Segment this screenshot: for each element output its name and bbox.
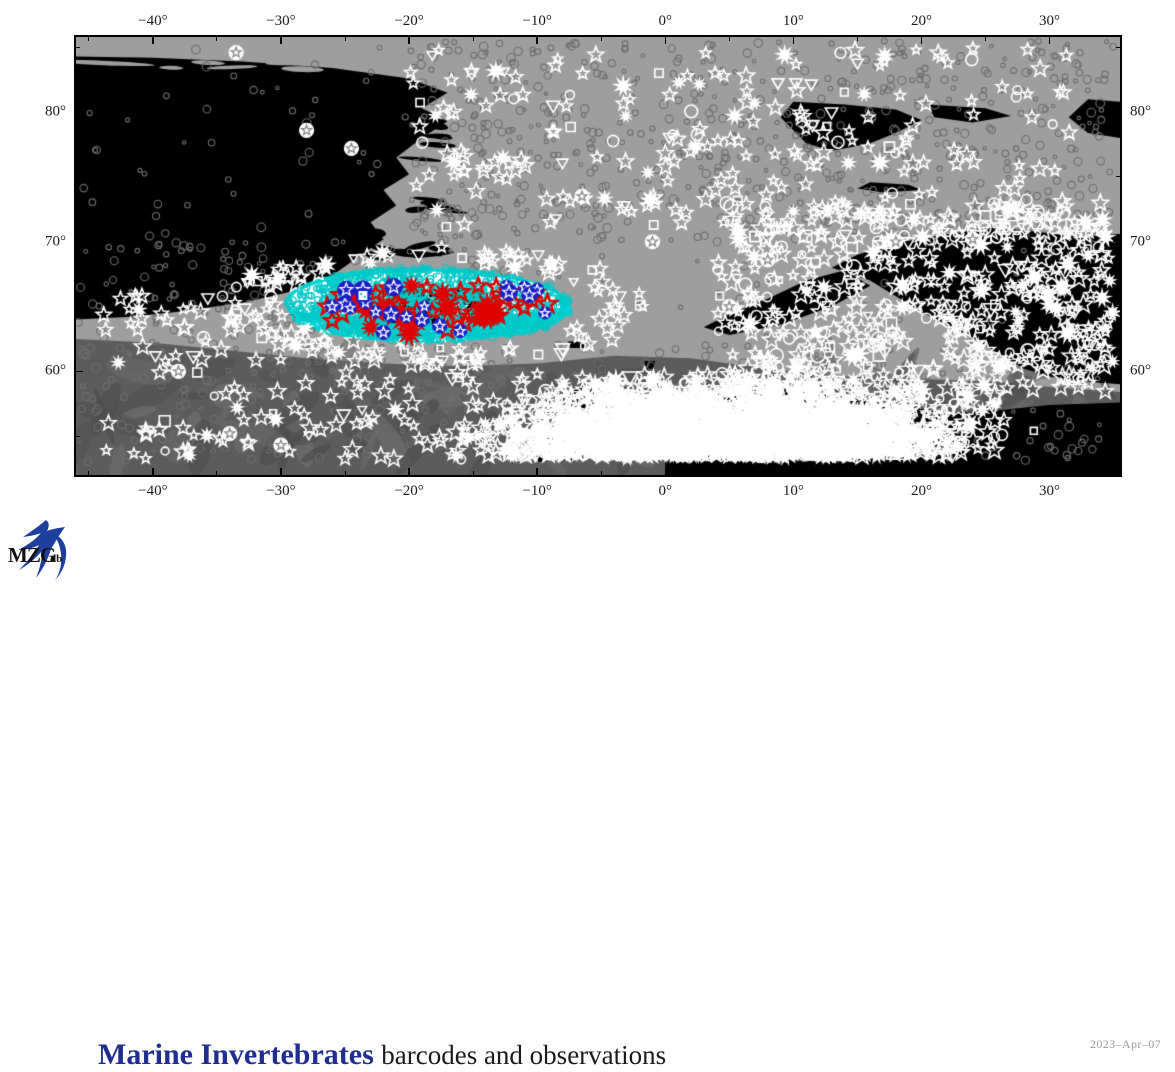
x-tick-minor — [88, 471, 89, 475]
x-axis-label-bottom: −30° — [266, 483, 295, 500]
y-tick-minor — [76, 306, 80, 307]
date-stamp: 2023–Apr–07 — [1090, 1037, 1161, 1052]
x-tick-minor — [857, 471, 858, 475]
svg-text:db: db — [50, 553, 62, 565]
x-tick-major — [793, 468, 795, 475]
x-tick-minor — [857, 37, 858, 41]
x-tick-major — [921, 468, 923, 475]
x-tick-major — [408, 37, 410, 44]
x-tick-minor — [345, 37, 346, 41]
y-tick-minor — [1116, 176, 1120, 177]
x-tick-major — [1049, 37, 1051, 44]
y-tick-major — [1113, 111, 1120, 113]
y-tick-minor — [1116, 306, 1120, 307]
y-axis-label-right: 60° — [1130, 363, 1151, 380]
x-tick-major — [408, 468, 410, 475]
x-axis-label-top: 0° — [659, 13, 673, 30]
figure-caption: Marine Invertebrates barcodes and observ… — [98, 1038, 666, 1072]
x-axis-label-top: −40° — [138, 13, 167, 30]
x-tick-minor — [345, 471, 346, 475]
x-tick-minor — [473, 471, 474, 475]
map-canvas[interactable] — [76, 37, 1120, 475]
x-axis-label-bottom: 10° — [783, 483, 804, 500]
x-axis-label-bottom: 30° — [1039, 483, 1060, 500]
x-axis-label-bottom: −20° — [394, 483, 423, 500]
y-axis-label-right: 80° — [1130, 104, 1151, 121]
y-tick-minor — [76, 176, 80, 177]
x-tick-major — [665, 468, 667, 475]
x-axis-label-top: 20° — [911, 13, 932, 30]
x-tick-minor — [729, 37, 730, 41]
y-axis-label-left: 80° — [28, 104, 66, 121]
figure-footer: MZG db Marine Invertebrates barcodes and… — [0, 510, 1175, 588]
x-tick-minor — [216, 471, 217, 475]
x-tick-minor — [601, 471, 602, 475]
y-tick-major — [76, 241, 83, 243]
y-axis-label-right: 70° — [1130, 233, 1151, 250]
x-tick-major — [536, 468, 538, 475]
x-axis-label-top: 10° — [783, 13, 804, 30]
x-tick-minor — [88, 37, 89, 41]
caption-strong: Marine Invertebrates — [98, 1038, 374, 1071]
x-tick-major — [280, 468, 282, 475]
x-tick-major — [793, 37, 795, 44]
y-tick-minor — [1116, 47, 1120, 48]
map-figure: −40°−40°−30°−30°−20°−20°−10°−10°0°0°10°1… — [0, 0, 1175, 510]
bird-logo-icon: MZG db — [6, 516, 78, 582]
map-frame[interactable] — [74, 35, 1122, 477]
x-tick-major — [665, 37, 667, 44]
x-tick-minor — [216, 37, 217, 41]
x-axis-label-bottom: 20° — [911, 483, 932, 500]
x-tick-major — [280, 37, 282, 44]
y-tick-minor — [76, 47, 80, 48]
x-axis-label-bottom: 0° — [659, 483, 673, 500]
y-tick-major — [76, 371, 83, 373]
x-axis-label-top: −20° — [394, 13, 423, 30]
y-tick-minor — [1116, 436, 1120, 437]
y-tick-minor — [76, 436, 80, 437]
x-tick-minor — [985, 37, 986, 41]
x-axis-label-top: −30° — [266, 13, 295, 30]
x-tick-major — [921, 37, 923, 44]
caption-light: barcodes and observations — [381, 1040, 666, 1070]
x-tick-major — [152, 37, 154, 44]
y-axis-label-left: 60° — [28, 363, 66, 380]
x-tick-major — [1049, 468, 1051, 475]
x-axis-label-bottom: −40° — [138, 483, 167, 500]
x-axis-label-top: 30° — [1039, 13, 1060, 30]
y-tick-major — [76, 111, 83, 113]
y-tick-major — [1113, 241, 1120, 243]
x-tick-major — [152, 468, 154, 475]
x-tick-minor — [473, 37, 474, 41]
x-tick-minor — [985, 471, 986, 475]
x-tick-minor — [729, 471, 730, 475]
svg-text:MZG: MZG — [8, 543, 56, 567]
x-tick-minor — [601, 37, 602, 41]
x-axis-label-top: −10° — [522, 13, 551, 30]
y-tick-major — [1113, 371, 1120, 373]
y-axis-label-left: 70° — [28, 233, 66, 250]
x-tick-major — [536, 37, 538, 44]
x-axis-label-bottom: −10° — [522, 483, 551, 500]
